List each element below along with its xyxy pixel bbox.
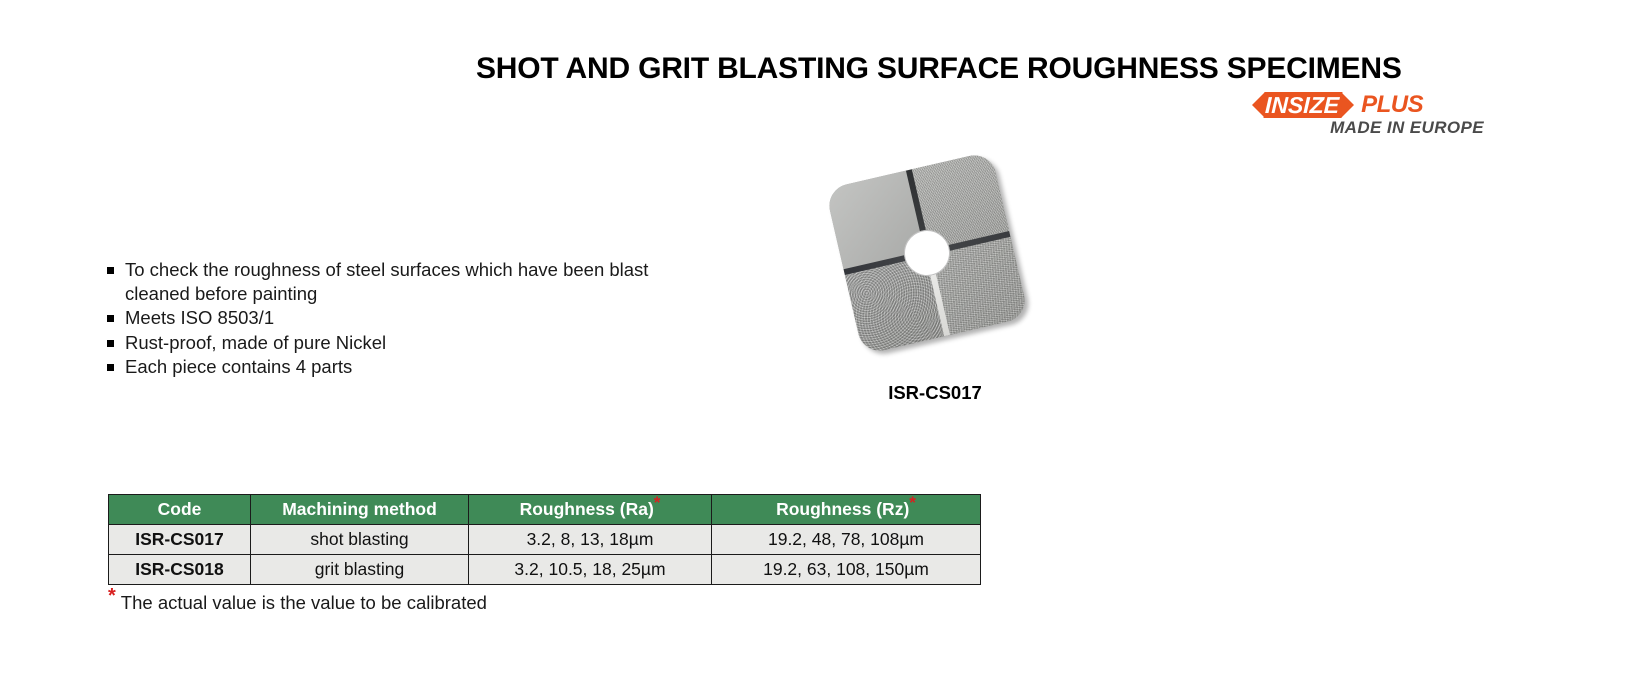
column-header-label: Roughness (Rz) <box>776 499 909 519</box>
list-item: Rust-proof, made of pure Nickel <box>107 331 707 355</box>
list-item-label: Rust-proof, made of pure Nickel <box>125 331 386 355</box>
specification-table: Code Machining method Roughness (Ra)* Ro… <box>108 494 981 585</box>
feature-list: To check the roughness of steel surfaces… <box>107 258 707 380</box>
made-in-europe-label: MADE IN EUROPE <box>1252 118 1484 138</box>
asterisk-icon: * <box>909 493 916 512</box>
brand-name-plus: PLUS <box>1361 91 1423 119</box>
list-item-label: Meets ISO 8503/1 <box>125 306 274 330</box>
table-row: ISR-CS017 shot blasting 3.2, 8, 13, 18µm… <box>109 525 981 555</box>
column-header-label: Roughness (Ra) <box>520 499 654 519</box>
product-caption: ISR-CS017 <box>800 382 1070 404</box>
footnote-label: The actual value is the value to be cali… <box>121 592 487 613</box>
bullet-square-icon <box>107 340 114 347</box>
column-header-roughness-rz: Roughness (Rz)* <box>712 495 981 525</box>
list-item: To check the roughness of steel surfaces… <box>107 258 707 305</box>
cell-method: shot blasting <box>251 525 469 555</box>
asterisk-icon: * <box>654 493 661 512</box>
bullet-square-icon <box>107 315 114 322</box>
cell-method: grit blasting <box>251 555 469 585</box>
product-figure: ISR-CS017 <box>800 160 1070 410</box>
brand-name-insize: INSIZE <box>1264 92 1343 118</box>
logo-wordmark-row: INSIZE PLUS <box>1252 90 1484 120</box>
cell-code: ISR-CS018 <box>109 555 251 585</box>
column-header-label: Machining method <box>282 499 437 519</box>
list-item-label: Each piece contains 4 parts <box>125 355 352 379</box>
roughness-specimen-image <box>825 151 1029 355</box>
list-item: Meets ISO 8503/1 <box>107 306 707 330</box>
list-item: Each piece contains 4 parts <box>107 355 707 379</box>
column-header-label: Code <box>158 499 202 519</box>
table-row: ISR-CS018 grit blasting 3.2, 10.5, 18, 2… <box>109 555 981 585</box>
footnote: *The actual value is the value to be cal… <box>108 592 487 614</box>
cell-ra: 3.2, 8, 13, 18µm <box>469 525 712 555</box>
cell-rz: 19.2, 63, 108, 150µm <box>712 555 981 585</box>
list-item-label: To check the roughness of steel surfaces… <box>125 258 707 305</box>
cell-ra: 3.2, 10.5, 18, 25µm <box>469 555 712 585</box>
asterisk-icon: * <box>108 585 116 607</box>
insize-plus-logo: INSIZE PLUS MADE IN EUROPE <box>1252 90 1484 144</box>
column-header-roughness-ra: Roughness (Ra)* <box>469 495 712 525</box>
cell-code: ISR-CS017 <box>109 525 251 555</box>
product-datasheet-page: SHOT AND GRIT BLASTING SURFACE ROUGHNESS… <box>0 0 1646 700</box>
cell-rz: 19.2, 48, 78, 108µm <box>712 525 981 555</box>
table-header-row: Code Machining method Roughness (Ra)* Ro… <box>109 495 981 525</box>
bullet-square-icon <box>107 267 114 274</box>
bullet-square-icon <box>107 364 114 371</box>
page-title: SHOT AND GRIT BLASTING SURFACE ROUGHNESS… <box>476 52 1476 86</box>
arrow-right-icon <box>1341 92 1354 118</box>
column-header-machining-method: Machining method <box>251 495 469 525</box>
column-header-code: Code <box>109 495 251 525</box>
specimen-plate <box>825 151 1029 355</box>
